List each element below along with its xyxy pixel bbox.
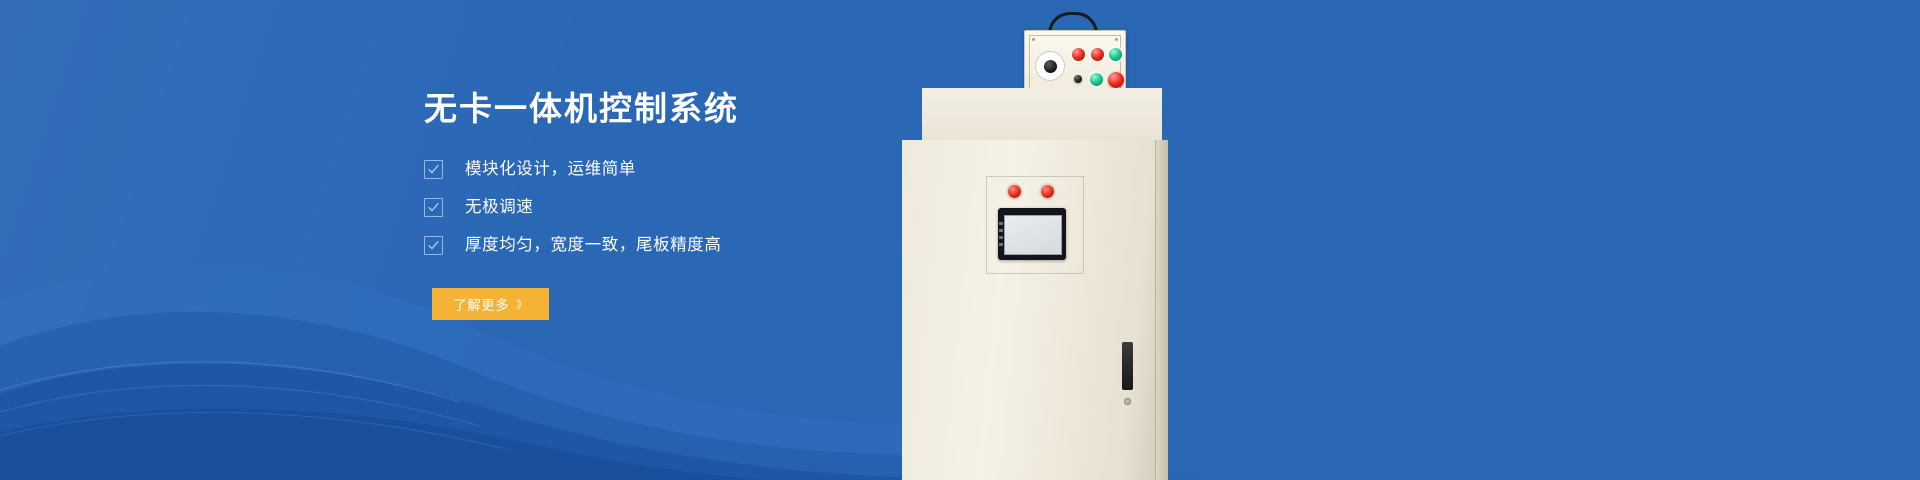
hmi-display [1004, 215, 1062, 255]
button-green-2[interactable] [1090, 73, 1103, 86]
list-item: 厚度均匀，宽度一致，尾板精度高 [424, 234, 894, 256]
check-square-icon [424, 198, 443, 217]
list-item: 模块化设计，运维简单 [424, 158, 894, 180]
hero-banner: 无卡一体机控制系统 模块化设计，运维简单 无极调速 [0, 0, 1920, 480]
pilot-lamp-1[interactable] [1008, 185, 1021, 198]
selector-knob-plate [1035, 51, 1065, 81]
feature-list: 模块化设计，运维简单 无极调速 厚度均匀，宽度一致，尾板精度高 [424, 158, 894, 256]
banner-content: 无卡一体机控制系统 模块化设计，运维简单 无极调速 [424, 86, 894, 320]
button-green-1[interactable] [1109, 48, 1122, 61]
door-lock[interactable] [1124, 398, 1131, 405]
button-red-1[interactable] [1072, 48, 1085, 61]
feature-label: 无极调速 [465, 196, 533, 218]
button-black-small[interactable] [1074, 75, 1082, 83]
pilot-lamp-2[interactable] [1041, 185, 1054, 198]
page-title: 无卡一体机控制系统 [424, 86, 894, 132]
list-item: 无极调速 [424, 196, 894, 218]
cabinet-side-panel [1155, 140, 1168, 480]
panel-screw [1032, 38, 1035, 41]
industrial-control-cabinet [900, 0, 1200, 480]
feature-label: 厚度均匀，宽度一致，尾板精度高 [465, 234, 722, 256]
learn-more-button[interactable]: 了解更多 》 [432, 288, 549, 320]
button-red-2[interactable] [1091, 48, 1104, 61]
hmi-touch-screen[interactable] [998, 208, 1066, 260]
selector-knob[interactable] [1044, 60, 1057, 73]
door-handle[interactable] [1122, 342, 1133, 390]
chevron-right-icon: 》 [516, 296, 528, 312]
check-square-icon [424, 236, 443, 255]
learn-more-label: 了解更多 [453, 294, 509, 314]
emergency-stop-button[interactable] [1108, 72, 1124, 88]
feature-label: 模块化设计，运维简单 [465, 158, 636, 180]
cabinet-door-seam [1155, 140, 1156, 480]
panel-screw [1115, 38, 1118, 41]
cabinet-top-hood [922, 88, 1162, 140]
hmi-side-keys[interactable] [999, 222, 1003, 244]
check-square-icon [424, 160, 443, 179]
